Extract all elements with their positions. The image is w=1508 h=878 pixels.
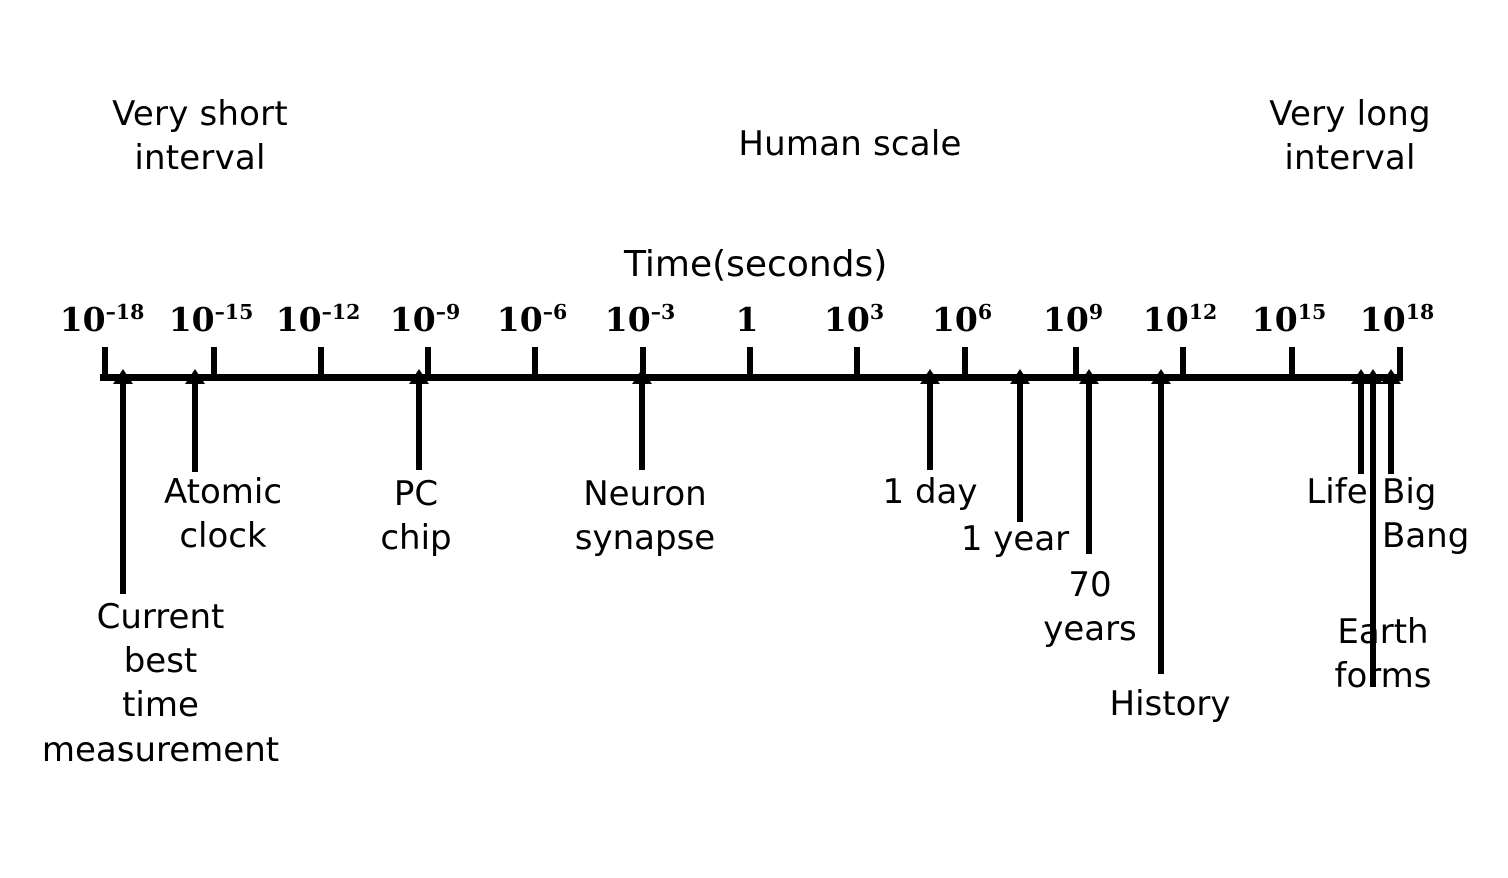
tick-mantissa: 10 bbox=[824, 300, 870, 339]
tick-exponent: 18 bbox=[1406, 300, 1434, 324]
callout-label-current-best-time-measurement: Current best time measurement bbox=[28, 595, 293, 772]
tick-mantissa: 10 bbox=[1043, 300, 1089, 339]
axis-tick bbox=[532, 347, 538, 381]
tick-mantissa: 10 bbox=[1360, 300, 1406, 339]
tick-exponent: 3 bbox=[870, 300, 884, 324]
tick-mantissa: 10 bbox=[276, 300, 322, 339]
callout-arrow-life bbox=[1358, 382, 1364, 474]
axis-tick-label: 10–9 bbox=[390, 303, 460, 336]
tick-exponent: –12 bbox=[322, 300, 361, 324]
tick-mantissa: 10 bbox=[169, 300, 215, 339]
tick-exponent: –15 bbox=[215, 300, 254, 324]
axis-tick bbox=[1289, 347, 1295, 381]
callout-arrow-neuron-synapse bbox=[639, 382, 645, 470]
axis-tick bbox=[318, 347, 324, 381]
axis-tick bbox=[211, 347, 217, 381]
tick-exponent: 9 bbox=[1089, 300, 1103, 324]
callout-label-earth-forms: Earth forms bbox=[1288, 610, 1478, 698]
callout-arrow-pc-chip bbox=[416, 382, 422, 470]
axis-tick-label: 1018 bbox=[1360, 303, 1434, 336]
region-label-very-long-interval: Very long interval bbox=[1200, 93, 1500, 180]
axis-tick-label: 10–18 bbox=[60, 303, 145, 336]
axis-tick-label: 10–6 bbox=[497, 303, 567, 336]
tick-mantissa: 10 bbox=[932, 300, 978, 339]
axis-tick-label: 1015 bbox=[1252, 303, 1326, 336]
tick-mantissa: 1 bbox=[736, 300, 759, 339]
axis-tick bbox=[102, 347, 108, 381]
tick-mantissa: 10 bbox=[1252, 300, 1298, 339]
tick-exponent: –3 bbox=[651, 300, 675, 324]
callout-label-pc-chip: PC chip bbox=[336, 472, 496, 560]
region-label-human-scale: Human scale bbox=[700, 123, 1000, 167]
tick-exponent: 6 bbox=[978, 300, 992, 324]
tick-exponent: 15 bbox=[1298, 300, 1326, 324]
tick-mantissa: 10 bbox=[497, 300, 543, 339]
axis-tick bbox=[962, 347, 968, 381]
callout-label-neuron-synapse: Neuron synapse bbox=[520, 472, 770, 560]
callout-label-one-year: 1 year bbox=[935, 517, 1095, 561]
callout-label-seventy-years: 70 years bbox=[1010, 563, 1170, 651]
tick-exponent: –9 bbox=[436, 300, 460, 324]
axis-tick bbox=[854, 347, 860, 381]
callout-arrow-big-bang bbox=[1388, 382, 1394, 474]
axis-tick bbox=[747, 347, 753, 381]
region-label-very-short-interval: Very short interval bbox=[50, 93, 350, 180]
tick-mantissa: 10 bbox=[60, 300, 106, 339]
callout-arrow-one-year bbox=[1017, 382, 1023, 522]
axis-tick-label: 109 bbox=[1043, 303, 1103, 336]
timescale-figure: Very short interval Human scale Very lon… bbox=[0, 0, 1508, 878]
tick-mantissa: 10 bbox=[605, 300, 651, 339]
axis-title: Time(seconds) bbox=[624, 245, 887, 285]
axis-tick bbox=[1180, 347, 1186, 381]
callout-label-one-day: 1 day bbox=[850, 470, 1010, 514]
callout-arrow-one-day bbox=[927, 382, 933, 470]
axis-tick-label: 10–12 bbox=[276, 303, 361, 336]
axis-line bbox=[100, 374, 1400, 381]
callout-label-atomic-clock: Atomic clock bbox=[108, 470, 338, 558]
axis-tick-label: 103 bbox=[824, 303, 884, 336]
axis-tick-label: 1 bbox=[736, 303, 759, 336]
tick-exponent: –18 bbox=[106, 300, 145, 324]
callout-arrow-atomic-clock bbox=[192, 382, 198, 472]
callout-label-big-bang: Big Bang bbox=[1382, 470, 1508, 558]
tick-mantissa: 10 bbox=[1143, 300, 1189, 339]
tick-exponent: –6 bbox=[543, 300, 567, 324]
axis-tick-label: 10–3 bbox=[605, 303, 675, 336]
tick-mantissa: 10 bbox=[390, 300, 436, 339]
axis-tick-label: 10–15 bbox=[169, 303, 254, 336]
tick-exponent: 12 bbox=[1189, 300, 1217, 324]
axis-tick-label: 106 bbox=[932, 303, 992, 336]
callout-label-history: History bbox=[1080, 682, 1260, 726]
axis-tick-label: 1012 bbox=[1143, 303, 1217, 336]
